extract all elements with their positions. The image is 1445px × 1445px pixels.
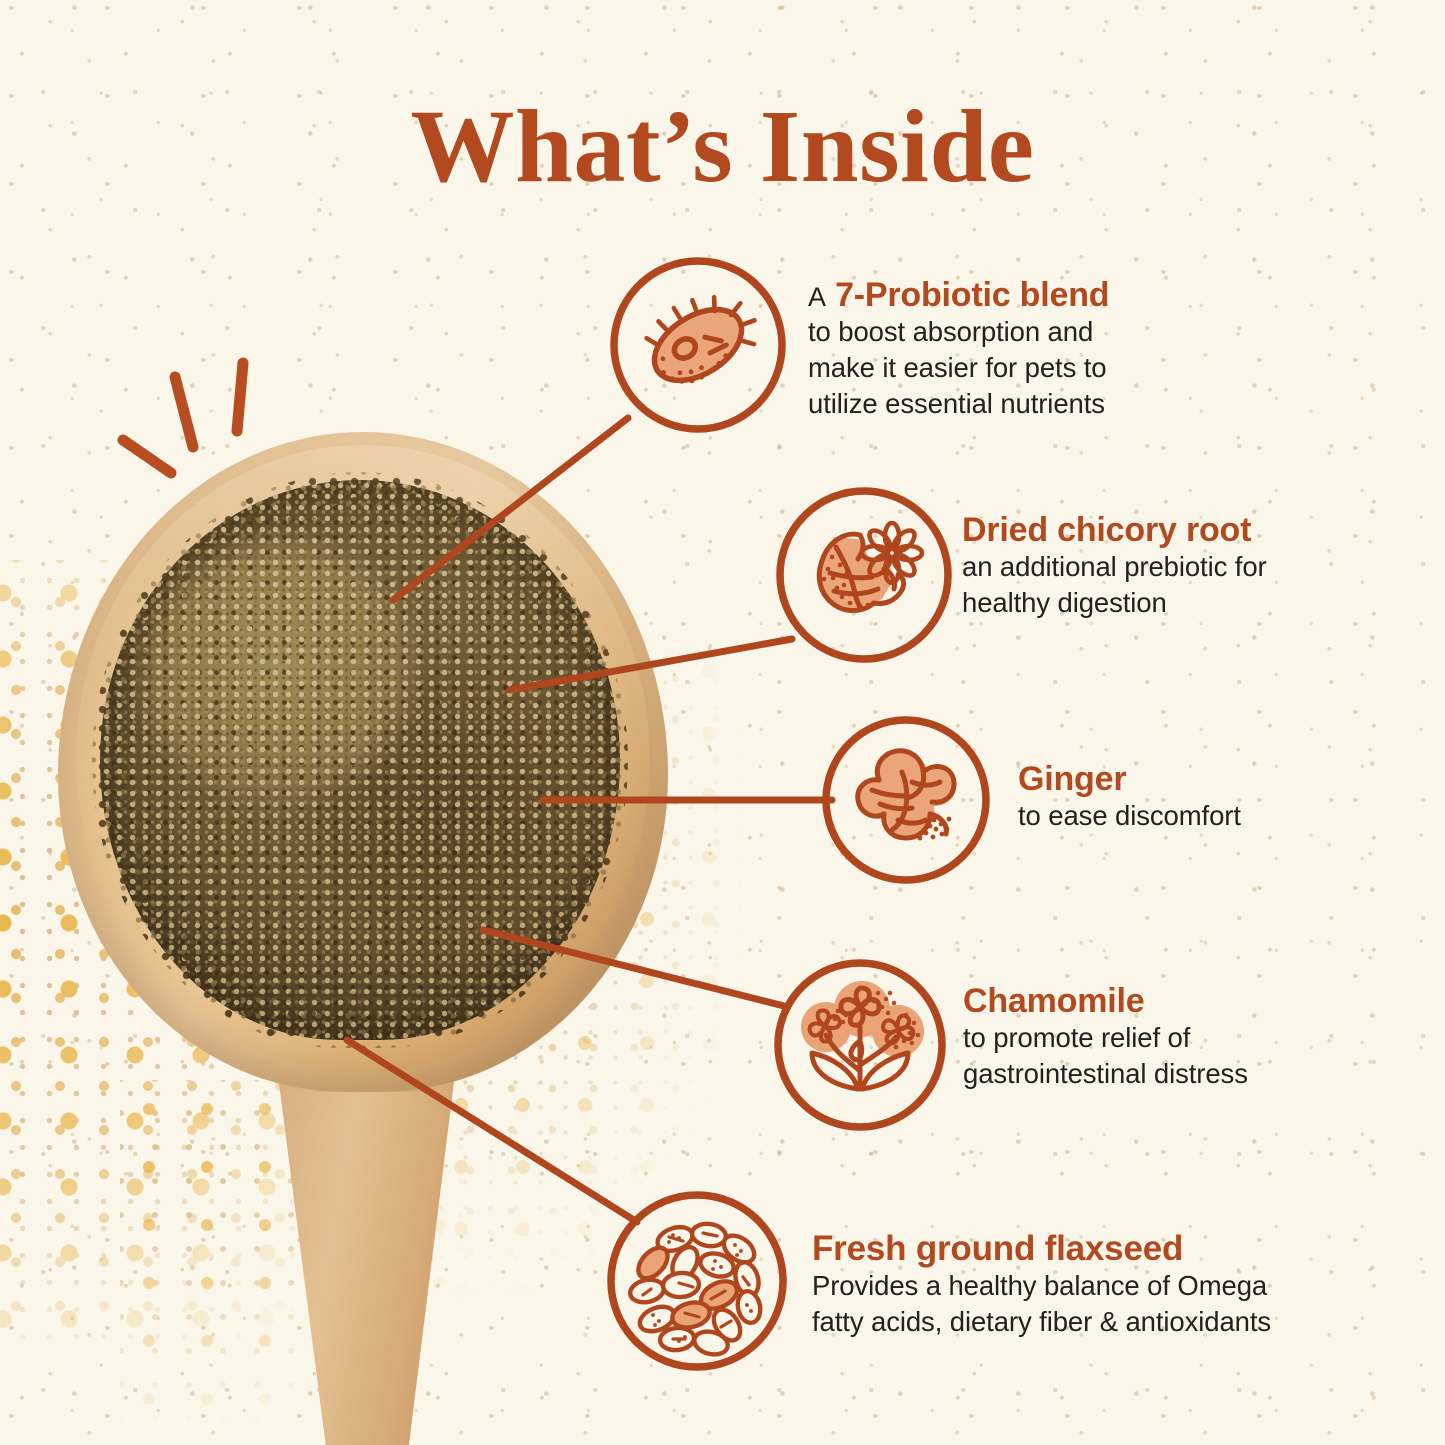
callout-chamomile: Chamomile to promote relief of gastroint… xyxy=(963,982,1248,1092)
callout-body-line: to ease discomfort xyxy=(1018,798,1241,834)
callout-body-line: gastrointestinal distress xyxy=(963,1056,1248,1092)
leader-line-chamomile xyxy=(483,930,788,1007)
callout-body-chicory: an additional prebiotic for healthy dige… xyxy=(962,549,1267,621)
callout-heading-chamomile: Chamomile xyxy=(963,982,1248,1020)
bacteria-probiotic-icon xyxy=(634,275,766,397)
callout-heading-ginger: Ginger xyxy=(1018,760,1241,798)
callout-body-line: to boost absorption and xyxy=(808,314,1109,350)
callout-heading-chicory: Dried chicory root xyxy=(962,511,1267,549)
callout-body-line: fatty acids, dietary fiber & antioxidant… xyxy=(812,1304,1271,1340)
chamomile-flowers-icon xyxy=(801,981,924,1089)
callout-heading-probiotic: A 7-Probiotic blend xyxy=(808,276,1109,314)
leader-line-flaxseed xyxy=(347,1040,637,1222)
page-title: What’s Inside xyxy=(0,92,1445,201)
callout-body-chamomile: to promote relief of gastrointestinal di… xyxy=(963,1020,1248,1092)
callout-heading-text-probiotic: 7-Probiotic blend xyxy=(835,276,1109,314)
flaxseed-cluster-icon xyxy=(628,1222,763,1358)
callout-body-line: an additional prebiotic for xyxy=(962,549,1267,585)
leader-line-probiotic xyxy=(393,418,628,600)
callout-body-probiotic: to boost absorption and make it easier f… xyxy=(808,314,1109,421)
callout-probiotic: A 7-Probiotic blend to boost absorption … xyxy=(808,276,1109,421)
callout-body-line: make it easier for pets to xyxy=(808,350,1109,386)
callout-body-line: healthy digestion xyxy=(962,585,1267,621)
callout-heading-flaxseed: Fresh ground flaxseed xyxy=(812,1229,1271,1268)
callout-flaxseed: Fresh ground flaxseed Provides a healthy… xyxy=(812,1229,1271,1340)
callout-body-flaxseed: Provides a healthy balance of Omega fatt… xyxy=(812,1268,1271,1340)
callout-lead-probiotic: A xyxy=(808,282,826,312)
callout-body-line: to promote relief of xyxy=(963,1020,1248,1056)
whats-inside-infographic: What’s Inside A 7-Probiotic blend to boo… xyxy=(0,0,1445,1445)
ginger-root-icon xyxy=(858,751,956,841)
callout-body-line: Provides a healthy balance of Omega xyxy=(812,1268,1271,1304)
chicory-root-flower-icon xyxy=(818,523,922,611)
callout-ginger: Ginger to ease discomfort xyxy=(1018,760,1241,834)
leader-line-chicory xyxy=(510,639,792,690)
callout-body-line: utilize essential nutrients xyxy=(808,386,1109,422)
callout-chicory: Dried chicory root an additional prebiot… xyxy=(962,511,1267,621)
callout-body-ginger: to ease discomfort xyxy=(1018,798,1241,834)
leader-lines xyxy=(347,418,832,1222)
